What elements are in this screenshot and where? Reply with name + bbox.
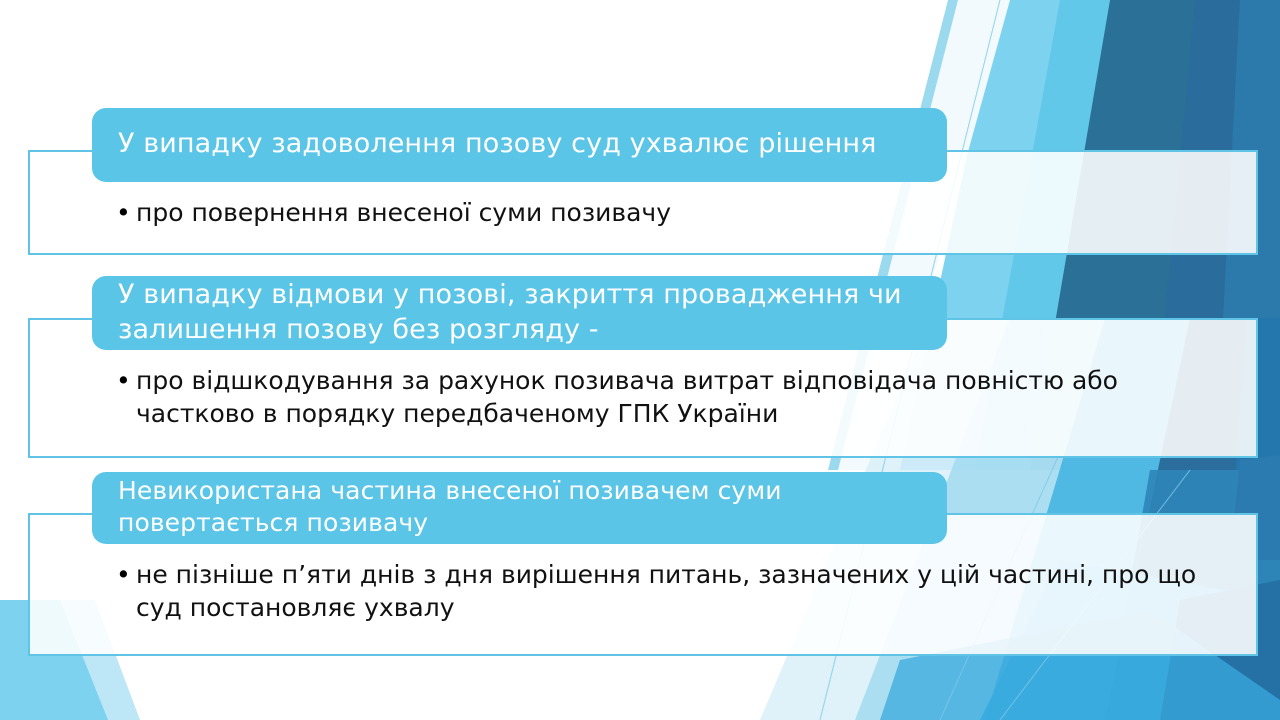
bullet-dot-icon: • [116,558,136,591]
bullet-list-2: • про відшкодування за рахунок позивача … [116,364,1196,430]
block-header-1[interactable]: У випадку задоволення позову суд ухвалює… [92,108,947,182]
block-header-2[interactable]: У випадку відмови у позові, закриття про… [92,276,947,350]
slide-canvas: У випадку задоволення позову суд ухвалює… [0,0,1280,720]
block-header-3-text: Невикористана частина внесеної позивачем… [118,475,929,540]
list-item: • про повернення внесеної суми позивачу [116,196,1116,229]
list-item: • про відшкодування за рахунок позивача … [116,364,1196,430]
block-header-2-text: У випадку відмови у позові, закриття про… [118,277,929,347]
bullet-text: не пізніше п’яти днів з дня вирішення пи… [136,558,1206,624]
bullet-text: про відшкодування за рахунок позивача ви… [136,364,1196,430]
bullet-list-1: • про повернення внесеної суми позивачу [116,196,1116,229]
block-header-1-text: У випадку задоволення позову суд ухвалює… [118,126,876,161]
list-item: • не пізніше п’яти днів з дня вирішення … [116,558,1206,624]
bullet-dot-icon: • [116,364,136,397]
bullet-text: про повернення внесеної суми позивачу [136,196,1116,229]
bullet-dot-icon: • [116,196,136,229]
block-header-3[interactable]: Невикористана частина внесеної позивачем… [92,472,947,544]
bullet-list-3: • не пізніше п’яти днів з дня вирішення … [116,558,1206,624]
